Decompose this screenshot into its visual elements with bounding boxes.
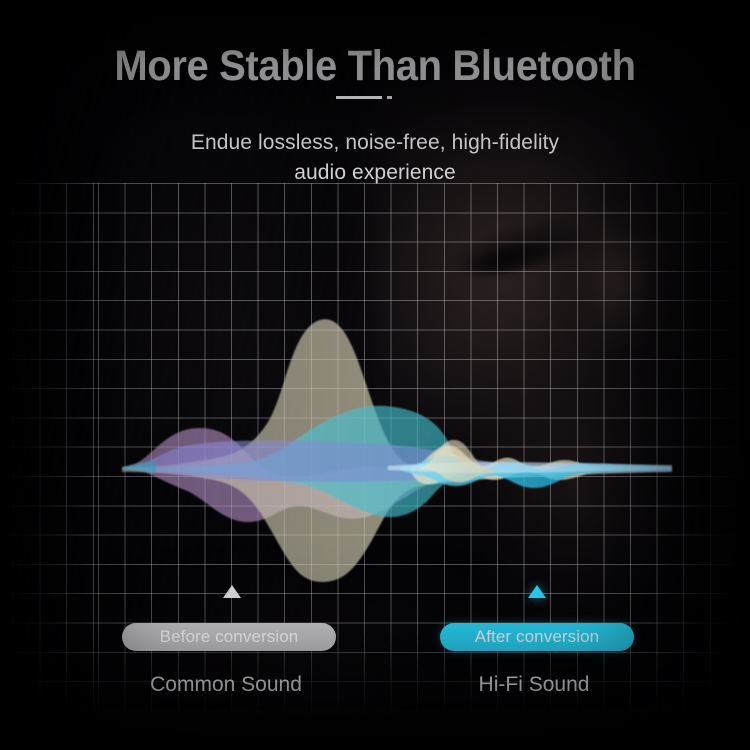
before-conversion-badge[interactable]: Before conversion: [122, 623, 336, 651]
page-title: More Stable Than Bluetooth: [26, 42, 724, 91]
after-conversion-badge[interactable]: After conversion: [440, 623, 634, 651]
caption-common-sound: Common Sound: [126, 673, 326, 697]
title-divider: [336, 96, 382, 99]
page-subtitle: Endue lossless, noise-free, high-fidelit…: [0, 128, 750, 188]
triangle-up-icon-before: [223, 585, 241, 598]
subtitle-line-1: Endue lossless, noise-free, high-fidelit…: [0, 128, 750, 158]
background-darkening: [0, 0, 750, 750]
title-divider-dot: [387, 96, 392, 99]
banner-stage: More Stable Than Bluetooth Endue lossles…: [0, 0, 750, 750]
caption-hifi-sound: Hi-Fi Sound: [454, 673, 614, 697]
triangle-up-icon-after: [528, 585, 546, 598]
background-photo: [0, 0, 750, 750]
subtitle-line-2: audio experience: [0, 158, 750, 188]
